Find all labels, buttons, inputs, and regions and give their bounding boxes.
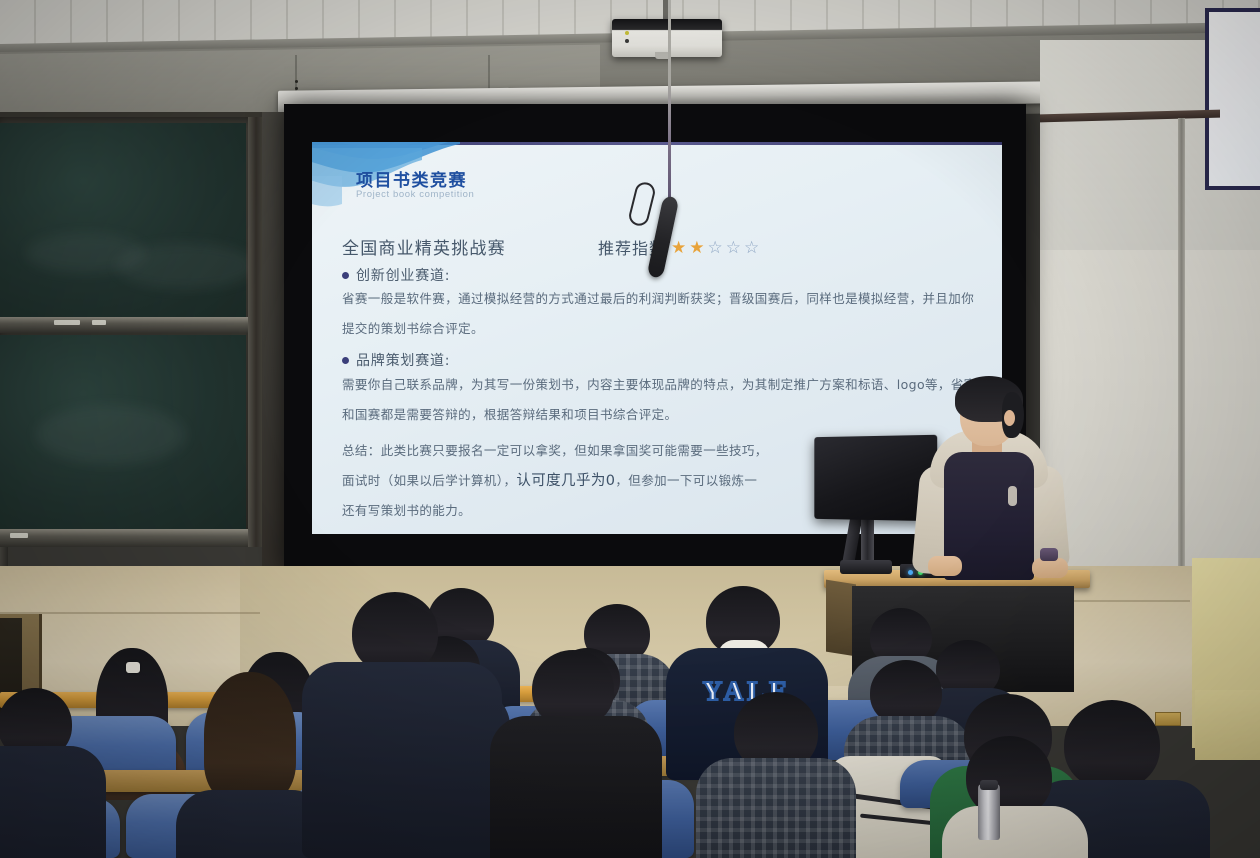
recommendation-rating: 推荐指数 ★ ★ ☆ ☆ ☆ [598, 235, 759, 259]
right-wall-post [1178, 118, 1185, 618]
bullet-dot-icon [342, 357, 349, 364]
summary-mid: ，但参加一下可以锻炼一 [615, 473, 757, 488]
blackboard [0, 112, 266, 542]
blackboard-chalk-rail [0, 317, 256, 333]
summary-head: 面试时（如果以后学计算机）， [342, 473, 516, 488]
presenter-right-hand [1032, 558, 1068, 578]
paragraph-innovation-track: 省赛一般是软件赛，通过模拟经营的方式通过最后的利润判断获奖；晋级国赛后，同样也是… [342, 284, 978, 344]
slide-header-title-cn: 项目书类竞赛 [356, 166, 467, 191]
projector-power-led [625, 31, 629, 35]
podium-status-led-blue [908, 570, 913, 575]
student-body [490, 716, 662, 858]
microphone-cable [668, 0, 671, 205]
wall-sign [1155, 712, 1181, 726]
star-filled-icon: ★ [689, 239, 704, 256]
student-body [0, 746, 106, 858]
presenter-ear [1004, 410, 1015, 426]
presenter-wristwatch [1040, 548, 1058, 561]
bullet-label: 品牌策划赛道: [356, 350, 450, 370]
blackboard-lower-panel [0, 335, 246, 531]
valance-mount-dots [295, 80, 299, 104]
bullet-dot-icon [342, 272, 349, 279]
bullet-item-1: 创新创业赛道: [342, 265, 450, 285]
bullet-label: 创新创业赛道: [356, 265, 450, 285]
student-body [696, 758, 856, 858]
star-empty-icon: ☆ [726, 239, 741, 256]
summary-text-1: 总结：此类比赛只要报名一定可以拿奖，但如果拿国奖可能需要一些技巧， [342, 443, 768, 458]
bullet-item-2: 品牌策划赛道: [342, 350, 450, 370]
student-hair [1064, 700, 1160, 790]
blackboard-bottom-rail [0, 529, 256, 547]
presenter-vest-logo [1008, 486, 1017, 506]
monitor-base [840, 560, 892, 574]
water-bottle[interactable] [978, 784, 1000, 840]
competition-name: 全国商业精英挑战赛 [342, 234, 506, 259]
student-body [302, 662, 502, 858]
projector-status-led [625, 39, 629, 43]
student-hair [204, 672, 296, 802]
summary-emphasis: 认可度几乎为0 [516, 473, 615, 489]
star-empty-icon: ☆ [744, 239, 759, 256]
water-bottle-cap [980, 780, 998, 790]
star-filled-icon: ★ [671, 239, 686, 256]
blackboard-upper-panel [0, 123, 246, 318]
yellow-wall-panel-lower [1195, 690, 1260, 760]
student-body [942, 806, 1088, 858]
right-light-window [1205, 8, 1260, 190]
star-empty-icon: ☆ [708, 239, 723, 256]
hair-clip [126, 662, 140, 673]
presenter-left-hand [928, 556, 962, 576]
slide-header-title-en: Project book competition [356, 189, 474, 200]
lecture-hall-scene: 项目书类竞赛 Project book competition 全国商业精英挑战… [0, 0, 1260, 858]
right-wall-lower [1040, 250, 1260, 610]
paragraph-brand-track: 需要你自己联系品牌，为其写一份策划书，内容主要体现品牌的特点，为其制定推广方案和… [342, 370, 978, 430]
